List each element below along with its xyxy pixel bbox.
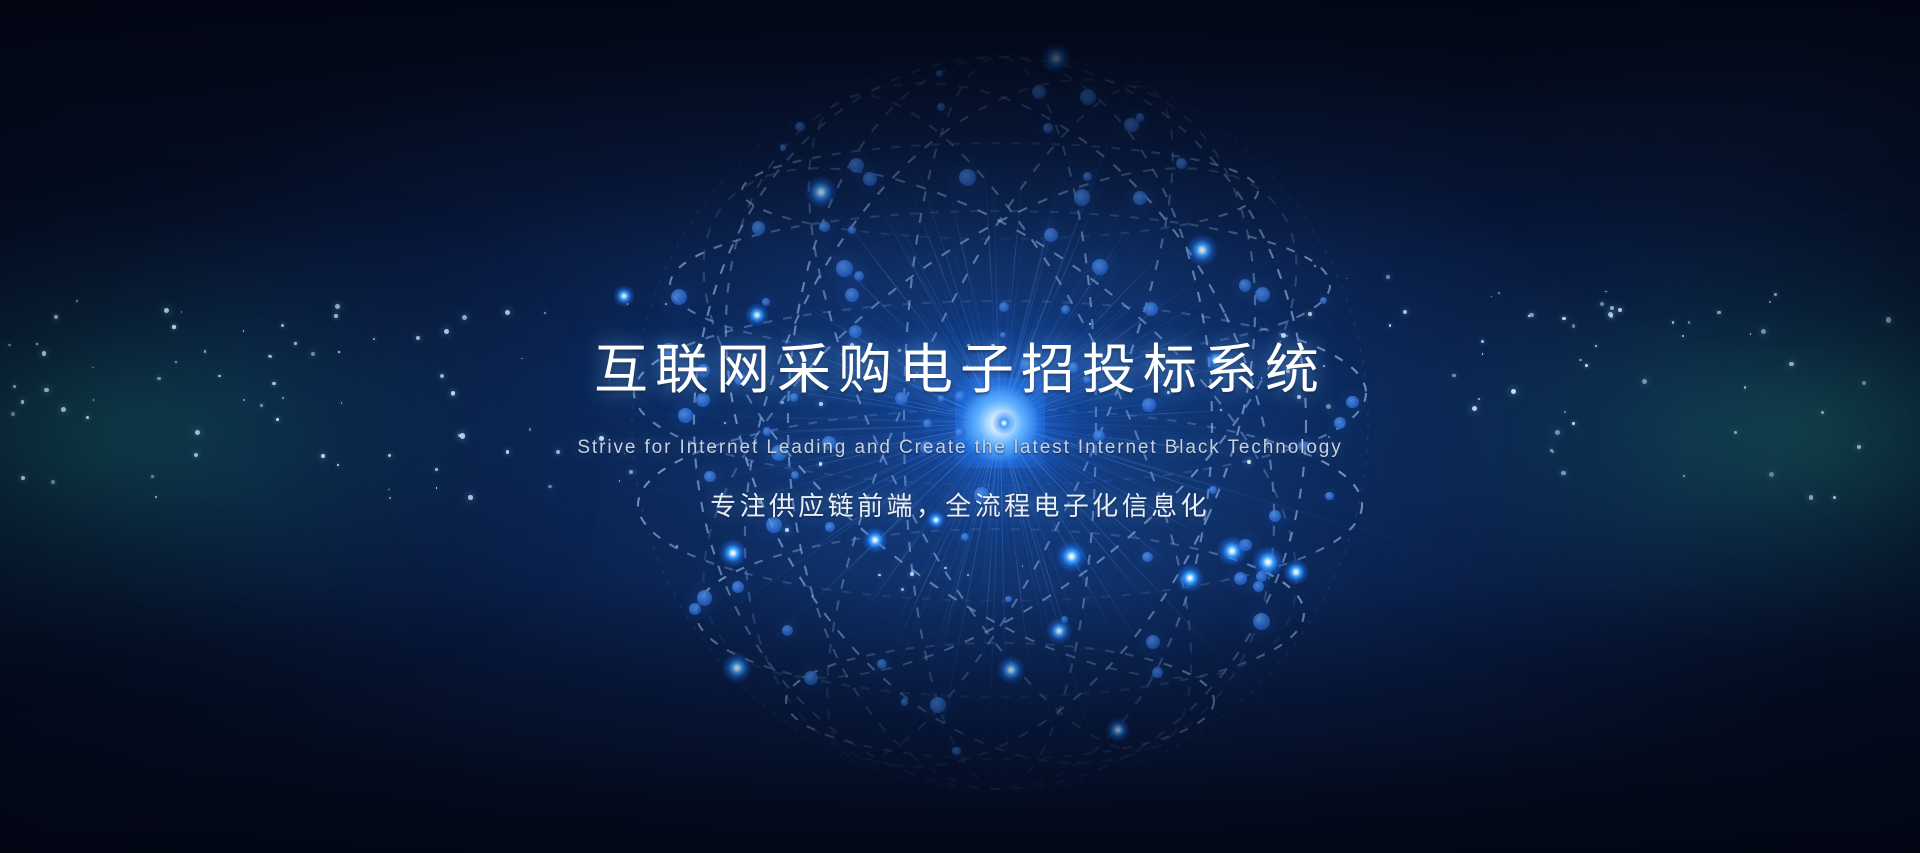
subtitle-chinese: 专注供应链前端，全流程电子化信息化 [0, 488, 1920, 524]
page-title: 互联网采购电子招投标系统 [0, 335, 1920, 405]
hero-banner: 互联网采购电子招投标系统 Strive for Internet Leading… [0, 0, 1920, 853]
vignette [0, 0, 1920, 853]
subtitle-english: Strive for Internet Leading and Create t… [0, 435, 1920, 461]
